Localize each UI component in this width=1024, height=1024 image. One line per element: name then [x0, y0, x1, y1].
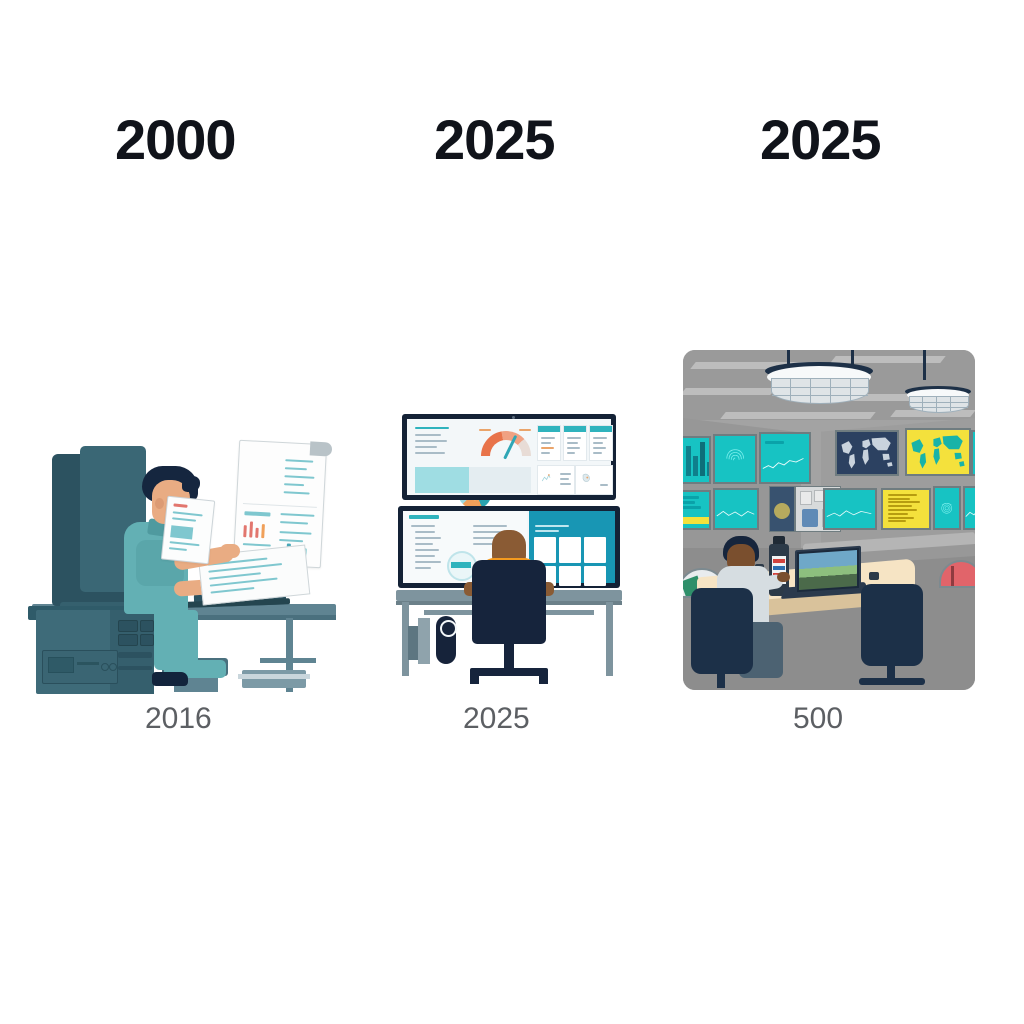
sparkline	[825, 508, 875, 519]
office-chair-back	[472, 560, 546, 644]
office-chair-caster-right	[539, 674, 548, 684]
dashboard-map-card-2	[575, 465, 613, 495]
wall-screen-edge-1	[971, 430, 975, 476]
column-header-1: 2000	[115, 112, 236, 168]
wall-screen-world-map-navy	[835, 430, 899, 476]
wall-screen-list-yellow	[881, 488, 931, 530]
sparkline	[715, 508, 757, 519]
dashboard-card-1	[537, 425, 561, 461]
paper-curl	[310, 441, 333, 456]
under-desk-tower-2	[418, 618, 430, 664]
fingerprint-icon	[940, 494, 953, 521]
top-monitor	[402, 414, 616, 500]
illustration-control-room	[683, 350, 975, 690]
gallery-thumb-2	[559, 537, 581, 563]
dashboard-map-card-1	[537, 465, 575, 495]
wall-screen-fingerprint-1	[713, 434, 757, 484]
operator-hand	[777, 572, 790, 582]
wall-screen-line-chart-1	[759, 432, 811, 484]
wall-screen-bar-chart	[683, 436, 711, 484]
desk-shelf	[242, 670, 306, 688]
operator-laptop	[795, 546, 861, 595]
empty-chair-base	[859, 678, 925, 685]
wall-screen-line-chart-2	[713, 488, 759, 530]
laptop-wallpaper	[799, 550, 857, 590]
wall-screen-line-chart-3	[823, 488, 877, 530]
desk-crossbar	[260, 658, 316, 663]
column-caption-1: 2016	[145, 704, 212, 734]
wall-screen-list-teal	[683, 490, 711, 530]
top-monitor-screen	[407, 419, 611, 495]
sparkline	[965, 507, 975, 519]
person-ear	[155, 498, 164, 509]
sparkline	[761, 457, 809, 471]
comparison-figure: 2000 2025 2025	[0, 0, 1024, 1024]
wall-screen-line-chart-4	[963, 486, 975, 530]
illustration-dual-monitor-desk	[396, 414, 622, 694]
desk-puck-2	[869, 572, 879, 580]
tower-slot-2	[118, 666, 152, 670]
world-map-icon	[907, 430, 969, 474]
gallery-thumb-5	[559, 566, 581, 586]
kpi-tile	[415, 467, 469, 493]
operator-chair	[691, 588, 753, 674]
world-map-icon	[837, 432, 897, 474]
person-shoe	[152, 672, 188, 686]
person-hand	[220, 544, 240, 558]
desktop-speaker	[436, 616, 456, 664]
operator-chair-stem	[717, 668, 725, 688]
tower-button-3	[118, 634, 138, 646]
wall-screen-world-map-yellow	[905, 428, 971, 476]
empty-chair	[861, 584, 923, 666]
wall-screen-fingerprint-2	[933, 486, 961, 530]
column-header-3: 2025	[760, 112, 881, 168]
handheld-report-page	[161, 496, 215, 565]
gallery-thumb-3	[584, 537, 606, 563]
dashboard-card-3	[589, 425, 613, 461]
fingerprint-icon	[724, 443, 746, 474]
tower-slot-1	[118, 652, 152, 658]
person-hair-fringe	[182, 476, 200, 492]
column-caption-3: 500	[793, 704, 843, 734]
dashboard-card-2	[563, 425, 587, 461]
illustration-legacy-desktop	[24, 432, 336, 694]
tower-button-2	[140, 620, 154, 632]
desk-shelf-top	[238, 674, 310, 679]
office-chair-stem	[504, 642, 514, 670]
column-caption-2: 2025	[463, 704, 530, 734]
gallery-thumb-6	[584, 566, 606, 586]
tower-drive-bay	[42, 650, 118, 684]
desk-leg-right	[606, 602, 613, 676]
office-chair-caster-left	[470, 674, 479, 684]
kpi-tile-muted	[469, 467, 531, 493]
tower-button-4	[140, 634, 154, 646]
column-header-2: 2025	[434, 112, 555, 168]
wall-poster	[769, 486, 795, 532]
office-chair-base	[470, 668, 548, 676]
tower-button-1	[118, 620, 138, 632]
